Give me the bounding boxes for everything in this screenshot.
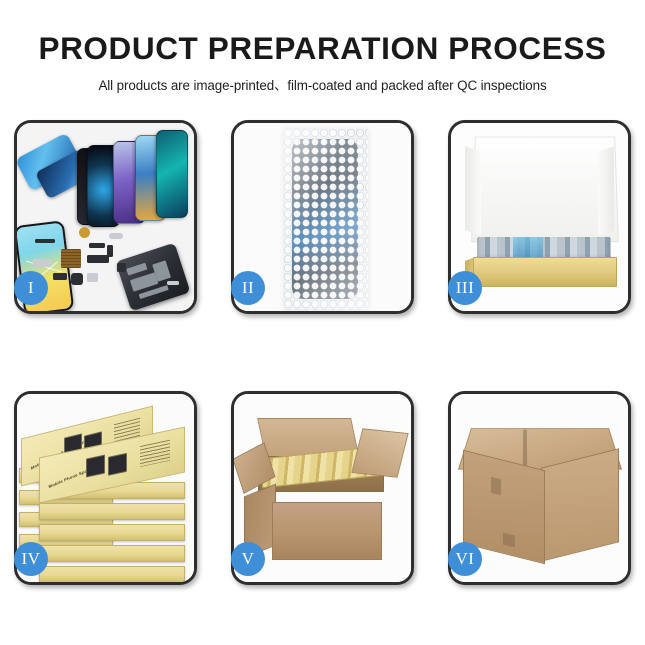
box-lid-right-icon (598, 146, 614, 235)
flex-cable-part-icon (35, 239, 55, 243)
box-window-icon (108, 453, 127, 476)
box-base-front-icon (473, 257, 617, 287)
vibrator-part-icon (53, 273, 67, 280)
step-badge-3: III (448, 271, 482, 305)
retail-box-icon (39, 545, 185, 562)
process-step-panel-6[interactable]: VI (448, 391, 631, 585)
process-step-panel-4[interactable]: Mobile Phone Spare Parts Mobile Phone Sp… (14, 391, 197, 585)
screw-set-part-icon (87, 273, 98, 282)
process-step-panel-2[interactable]: II (231, 120, 414, 314)
step-badge-4: IV (14, 542, 48, 576)
page-subtitle: All products are image-printed、film-coat… (0, 65, 645, 94)
process-step-grid: I II III (14, 120, 631, 585)
camera-module-part-icon (71, 273, 83, 285)
sealed-carton-side-icon (541, 448, 619, 561)
phone-screen-teal-icon (156, 130, 188, 218)
speaker-part-icon (79, 227, 90, 238)
plastic-gloss-icon (284, 129, 368, 310)
retail-box-icon (39, 503, 185, 520)
step-badge-2: II (231, 271, 265, 305)
retail-box-icon (39, 566, 185, 582)
tool-part-icon (167, 281, 179, 285)
button-part-icon (109, 233, 123, 239)
process-step-panel-5[interactable]: V (231, 391, 414, 585)
carton-tape-icon (491, 477, 501, 495)
page-title: PRODUCT PREPARATION PROCESS (0, 0, 645, 65)
carton-front-icon (272, 502, 382, 560)
mesh-grille-part-icon (61, 249, 81, 268)
step-badge-6: VI (448, 542, 482, 576)
carton-seam-icon (523, 430, 527, 470)
box-window-icon (86, 454, 105, 477)
step-badge-1: I (14, 271, 48, 305)
bracket-part-icon (33, 259, 51, 267)
connector-part-icon (87, 255, 109, 263)
page-header: PRODUCT PREPARATION PROCESS All products… (0, 0, 645, 94)
box-spec-lines-icon (140, 440, 170, 467)
box-lid-back-icon (471, 137, 619, 242)
process-step-panel-3[interactable]: III (448, 120, 631, 314)
taptic-part-icon (117, 263, 126, 272)
box-lid-left-icon (465, 146, 481, 235)
antenna-part-icon (89, 243, 105, 248)
step-badge-5: V (231, 542, 265, 576)
process-step-panel-1[interactable]: I (14, 120, 197, 314)
retail-box-icon (39, 524, 185, 541)
